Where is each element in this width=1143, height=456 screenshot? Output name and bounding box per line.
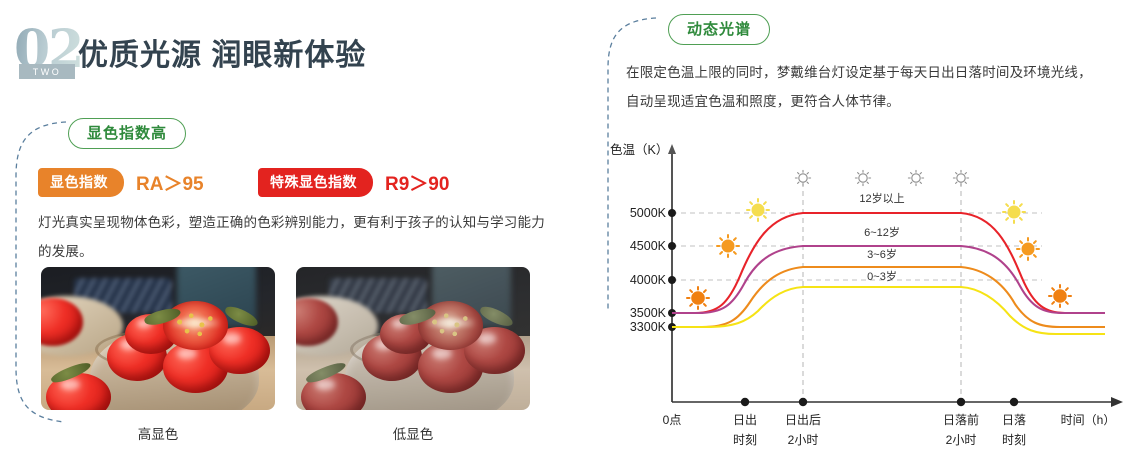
x-tick-label-3a: 日落前: [943, 412, 979, 427]
y-tick-label: 5000K: [630, 206, 667, 220]
section-number-sublabel: TWO: [33, 67, 62, 77]
section-number-subbar: TWO: [19, 64, 75, 79]
sun-outline-icon: [953, 170, 968, 185]
badge-cri: 显色指数高: [68, 118, 186, 149]
badge-dynamic-spectrum: 动态光谱: [668, 14, 770, 45]
sun-filled-icon-group-right: [1003, 201, 1071, 307]
ribbon-cri-label: 显色指数: [38, 168, 124, 197]
chart-x-axis-title: 时间（h）: [1061, 413, 1116, 427]
x-tick-label-2b: 2小时: [788, 433, 819, 447]
tag-row-r9: 特殊显色指数 R9＞90: [258, 168, 449, 197]
y-tick-label: 4500K: [630, 239, 667, 253]
sun-deep-orange-icon: [1049, 285, 1071, 307]
chart-gridlines-vertical: [803, 182, 961, 402]
color-temperature-chart: 色温（K） 5000K 4500K 4000K 3500K: [610, 136, 1140, 456]
photo-low-cri: [296, 267, 530, 410]
series-label-6-12: 6~12岁: [864, 225, 900, 239]
photo-high-cri: [41, 267, 275, 410]
series-label-3-6: 3~6岁: [867, 247, 897, 261]
x-tick-label-1a: 日出: [733, 413, 757, 427]
sun-outline-icon: [795, 170, 810, 185]
ribbon-r9-label: 特殊显色指数: [258, 168, 373, 197]
series-label-0-3: 0~3岁: [867, 269, 897, 283]
y-tick-label: 3500K: [630, 306, 667, 320]
sun-outline-icon: [855, 170, 870, 185]
y-tick-label: 3300K: [630, 320, 667, 334]
spectrum-description: 在限定色温上限的同时，梦戴维台灯设定基于每天日出日落时间及环境光线， 自动呈现适…: [626, 58, 1126, 116]
ribbon-cri-value: RA＞95: [136, 169, 204, 196]
x-tick-label-1b: 时刻: [733, 433, 757, 447]
sun-deep-orange-icon: [687, 287, 709, 309]
x-tick-label-4a: 日落: [1002, 413, 1026, 427]
sun-orange-icon: [1017, 238, 1039, 260]
sun-outline-icon: [908, 170, 923, 185]
page-title: 优质光源 润眼新体验: [78, 30, 366, 74]
series-label-12-plus: 12岁以上: [859, 191, 904, 205]
x-tick-label-3b: 2小时: [946, 433, 977, 447]
spectrum-description-line1: 在限定色温上限的同时，梦戴维台灯设定基于每天日出日落时间及环境光线，: [626, 58, 1126, 87]
ribbon-r9-value: R9＞90: [385, 169, 449, 196]
y-tick-label: 4000K: [630, 273, 667, 287]
sun-yellow-icon: [1003, 201, 1025, 223]
x-tick-label-4b: 时刻: [1002, 433, 1026, 447]
sun-orange-icon: [717, 235, 739, 257]
tomato-scene-high: [41, 267, 275, 410]
caption-low-cri: 低显色: [296, 423, 530, 443]
sun-yellow-icon: [747, 199, 769, 221]
sun-outline-icon-group: [795, 170, 968, 185]
section-number: 02 TWO: [14, 26, 82, 82]
tomato-scene-low: [296, 267, 530, 410]
caption-high-cri: 高显色: [41, 423, 275, 443]
chart-y-axis-title: 色温（K）: [610, 142, 668, 157]
tag-row-ra: 显色指数 RA＞95: [38, 168, 204, 197]
cri-description: 灯光真实呈现物体色彩，塑造正确的色彩辨别能力，更有利于孩子的认知与学习能力的发展…: [38, 208, 558, 266]
chart-x-tick-labels: 0点 日出 时刻 日出后 2小时 日落前 2小时 日落 时刻 时间（h）: [663, 412, 1116, 447]
spectrum-description-line2: 自动呈现适宜色温和照度，更符合人体节律。: [626, 87, 1126, 116]
x-tick-label-0: 0点: [663, 413, 682, 427]
chart-y-ticks: 5000K 4500K 4000K 3500K 3300K: [630, 206, 676, 334]
x-tick-label-2a: 日出后: [785, 413, 821, 427]
page-root: 02 TWO 优质光源 润眼新体验 显色指数高 动态光谱 显色指数 RA＞95 …: [0, 0, 1143, 456]
